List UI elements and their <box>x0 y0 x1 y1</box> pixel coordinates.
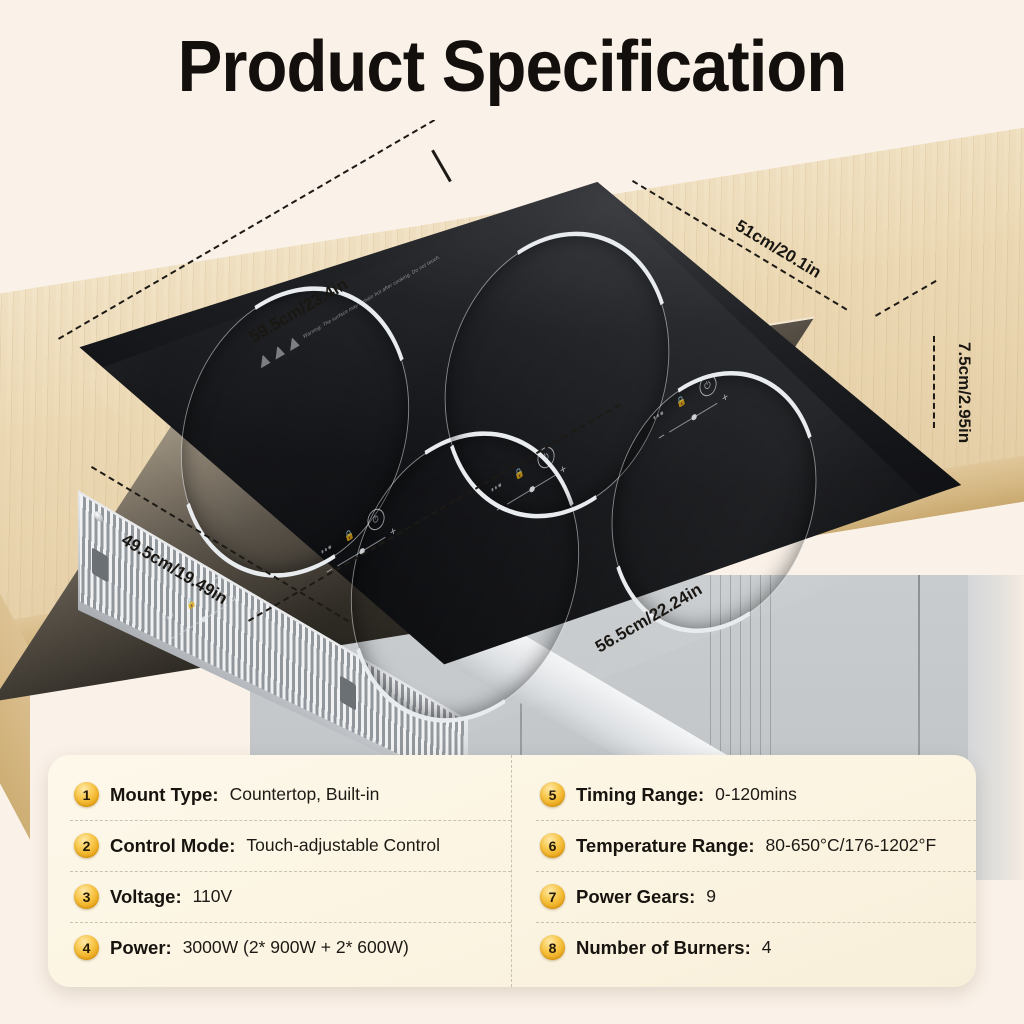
spec-label: Temperature Range: <box>576 835 755 857</box>
spec-row: 6 Temperature Range: 80-650°C/176-1202°F <box>536 821 976 872</box>
spec-row: 4 Power: 3000W (2* 900W + 2* 600W) <box>70 923 511 973</box>
product-specification-page: Product Specification <box>0 0 1024 1024</box>
spec-number-badge: 7 <box>540 884 565 909</box>
spec-value: 0-120mins <box>715 784 797 805</box>
level-indicator-dots <box>491 484 501 492</box>
level-indicator-dots <box>653 412 663 420</box>
spec-row: 1 Mount Type: Countertop, Built-in <box>70 770 511 821</box>
spec-column-left: 1 Mount Type: Countertop, Built-in 2 Con… <box>48 755 512 987</box>
spec-value: 4 <box>762 937 772 958</box>
spec-value: 9 <box>706 886 716 907</box>
level-indicator-dots <box>321 546 331 554</box>
spec-label: Power: <box>110 937 172 959</box>
dimension-label-cooktop-height: 7.5cm/2.95in <box>954 342 974 443</box>
spec-column-right: 5 Timing Range: 0-120mins 6 Temperature … <box>512 755 976 987</box>
spec-row: 2 Control Mode: Touch-adjustable Control <box>70 821 511 872</box>
spec-number-badge: 3 <box>74 884 99 909</box>
warning-triangle-icon <box>273 344 285 360</box>
page-title: Product Specification <box>36 26 988 108</box>
induction-cooktop: Warning: The surface may remain hot afte… <box>40 160 980 760</box>
spec-number-badge: 5 <box>540 782 565 807</box>
spec-number-badge: 2 <box>74 833 99 858</box>
level-indicator-dots <box>163 614 173 622</box>
spec-number-badge: 6 <box>540 833 565 858</box>
spec-value: 110V <box>193 886 233 907</box>
spec-label: Number of Burners: <box>576 937 751 959</box>
warning-triangle-icon <box>258 353 270 369</box>
spec-label: Timing Range: <box>576 784 704 806</box>
spec-value: Touch-adjustable Control <box>246 835 440 856</box>
spec-row: 5 Timing Range: 0-120mins <box>536 770 976 821</box>
spec-value: 3000W (2* 900W + 2* 600W) <box>183 937 409 958</box>
spec-label: Voltage: <box>110 886 182 908</box>
spec-number-badge: 4 <box>74 935 99 960</box>
specification-card: 1 Mount Type: Countertop, Built-in 2 Con… <box>48 755 976 987</box>
spec-row: 7 Power Gears: 9 <box>536 872 976 923</box>
spec-number-badge: 1 <box>74 782 99 807</box>
spec-label: Power Gears: <box>576 886 695 908</box>
spec-row: 8 Number of Burners: 4 <box>536 923 976 973</box>
spec-value: 80-650°C/176-1202°F <box>766 835 937 856</box>
warning-triangle-icon <box>287 335 299 351</box>
spec-row: 3 Voltage: 110V <box>70 872 511 923</box>
spec-value: Countertop, Built-in <box>230 784 380 805</box>
spec-label: Control Mode: <box>110 835 235 857</box>
spec-label: Mount Type: <box>110 784 219 806</box>
spec-number-badge: 8 <box>540 935 565 960</box>
dimension-line-height <box>933 336 935 428</box>
